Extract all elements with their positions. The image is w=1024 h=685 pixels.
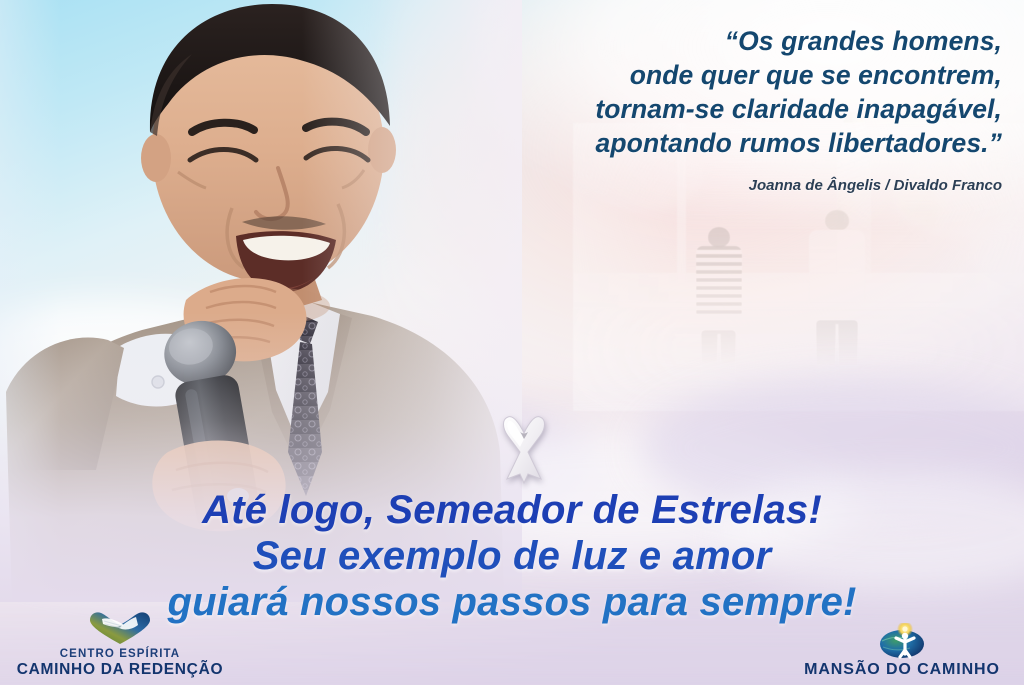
logo-right-line-2: MANSÃO DO CAMINHO — [786, 661, 1018, 679]
tribute-poster: “Os grandes homens, onde quer que se enc… — [0, 0, 1024, 685]
heart-hands-logo-icon — [4, 610, 236, 646]
globe-figure-logo-icon — [786, 623, 1018, 659]
quote-line-1: “Os grandes homens, — [442, 24, 1002, 58]
tribute-text: Até logo, Semeador de Estrelas! Seu exem… — [0, 487, 1024, 625]
tribute-line-1: Até logo, Semeador de Estrelas! — [0, 487, 1024, 533]
quote-block: “Os grandes homens, onde quer que se enc… — [442, 24, 1002, 196]
logo-left-line-2: CAMINHO DA REDENÇÃO — [4, 661, 236, 679]
quote-line-3: tornam-se claridade inapagável, — [442, 92, 1002, 126]
logo-left-line-1: CENTRO ESPÍRITA — [4, 648, 236, 661]
quote-line-4: apontando rumos libertadores.” — [442, 126, 1002, 160]
tribute-line-2: Seu exemplo de luz e amor — [0, 533, 1024, 579]
logo-centro-espirita-caminho-da-redencao: CENTRO ESPÍRITA CAMINHO DA REDENÇÃO — [4, 610, 236, 679]
quote-line-2: onde quer que se encontrem, — [442, 58, 1002, 92]
logo-mansao-do-caminho: MANSÃO DO CAMINHO — [786, 623, 1018, 679]
quote-attribution: Joanna de Ângelis / Divaldo Franco — [442, 176, 1002, 196]
cuff-button — [152, 376, 164, 388]
mourning-ribbon-icon — [489, 411, 559, 485]
